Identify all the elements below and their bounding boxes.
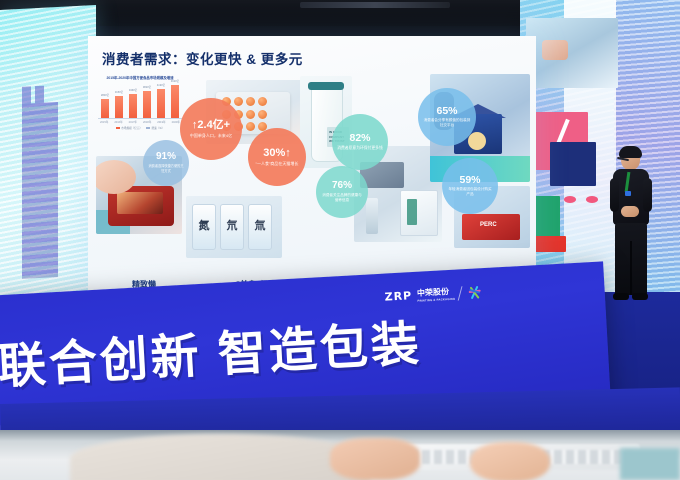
stat-caption: 消费者选择快捷方便的烹饪方式 bbox=[147, 164, 185, 173]
stat-caption: 年轻消费者因包装设计购买产品 bbox=[447, 187, 493, 197]
stat-bubble-76: 76% 消费者关注品牌的健康与营养信息 bbox=[316, 166, 368, 218]
stat-value: ↑2.4亿+ bbox=[192, 120, 230, 131]
stat-bubble-91: 91% 消费者选择快捷方便的烹饪方式 bbox=[143, 140, 189, 186]
bar-value-label: 4620亿 bbox=[171, 79, 179, 83]
tube-package bbox=[366, 198, 378, 234]
badge bbox=[625, 191, 631, 196]
logo-cn-label: 中荣股份 bbox=[417, 287, 449, 298]
stat-bubble-30: 30%↑ “一人食”商品在天猫增长 bbox=[248, 128, 306, 186]
ceiling-light bbox=[300, 2, 450, 8]
egg bbox=[246, 110, 255, 119]
moon-graphic bbox=[468, 132, 486, 150]
market-size-bar-chart: 2015年-2020年中国方便食品市场规模及增速 2800亿 3150亿 346… bbox=[98, 76, 182, 132]
foreground-object bbox=[620, 448, 680, 480]
carton-box bbox=[400, 190, 438, 236]
stat-bubble-65: 65% 消费者会分享有颜值的包装到社交平台 bbox=[418, 88, 476, 146]
egg bbox=[258, 97, 267, 106]
banner-headline: 联合创新 智造包装 bbox=[0, 304, 423, 398]
legend-swatch bbox=[146, 127, 150, 129]
presentation-screen: 消费者需求：变化更快 & 更多元 2015年-2020年中国方便食品市场规模及增… bbox=[88, 36, 536, 300]
chart-bar: 4190亿 bbox=[157, 89, 165, 119]
can: 氮 bbox=[192, 204, 216, 250]
foreground-hand bbox=[330, 438, 420, 480]
stat-value: 65% bbox=[436, 106, 457, 117]
left-panel-block bbox=[22, 86, 31, 103]
presenter-arm-left bbox=[610, 178, 619, 212]
x-tick-label: 2017年 bbox=[129, 120, 137, 124]
bar-value-label: 4190亿 bbox=[157, 83, 165, 87]
foreground-person bbox=[70, 434, 370, 480]
presenter bbox=[608, 148, 654, 310]
brand-logo: ZRP 中荣股份 PRINTING & PACKAGING bbox=[384, 284, 484, 305]
led-photo-tile bbox=[526, 18, 618, 88]
x-tick-label: 2019年 bbox=[157, 120, 165, 124]
logo-latin-text: ZRP bbox=[384, 289, 412, 304]
chart-title: 2015年-2020年中国方便食品市场规模及增速 bbox=[98, 76, 182, 81]
stage-scene: PERC 消费者需求：变化更快 & 更多元 2015年-2020年中国方便食品市… bbox=[0, 0, 680, 480]
stat-caption: 消费者愿意为环保付更多钱 bbox=[337, 146, 383, 152]
x-tick-label: 2018年 bbox=[143, 120, 151, 124]
legend-swatch bbox=[116, 127, 120, 129]
logo-divider bbox=[458, 286, 463, 300]
bar-value-label: 3150亿 bbox=[115, 90, 123, 94]
legend-label: 增速（%） bbox=[152, 126, 165, 130]
can: 氘 bbox=[220, 204, 244, 250]
chart-bars: 2800亿 3150亿 3460亿 3820亿 4190亿 4620亿 bbox=[98, 84, 182, 119]
chart-bar: 3150亿 bbox=[115, 96, 123, 118]
led-dot bbox=[586, 196, 598, 203]
legend-label: 市场规模（亿元） bbox=[121, 126, 142, 130]
chart-legend: 市场规模（亿元） 增速（%） bbox=[98, 126, 182, 130]
stat-caption: 消费者关注品牌的健康与营养信息 bbox=[321, 193, 363, 203]
stat-value: 30%↑ bbox=[263, 148, 291, 159]
x-tick-label: 2016年 bbox=[114, 120, 122, 124]
presenter-arm-right bbox=[643, 178, 652, 212]
logo-subtitle: PRINTING & PACKAGING bbox=[417, 297, 455, 303]
legend-entry: 市场规模（亿元） bbox=[116, 126, 142, 130]
stat-value: 76% bbox=[332, 181, 352, 191]
presenter-shoe-left bbox=[613, 293, 629, 300]
stat-bubble-82: 82% 消费者愿意为环保付更多钱 bbox=[332, 114, 388, 170]
stat-bubble-24yi: ↑2.4亿+ 中国单身人口，未来4亿 bbox=[180, 98, 242, 160]
kit-box bbox=[462, 214, 520, 240]
stat-value: 59% bbox=[459, 175, 480, 186]
foreground-hand bbox=[470, 442, 550, 480]
chart-bar: 2800亿 bbox=[101, 99, 109, 118]
logo-chinese-text: 中荣股份 PRINTING & PACKAGING bbox=[417, 286, 456, 303]
chart-x-axis: 2015年 2016年 2017年 2018年 2019年 2020年 bbox=[98, 119, 182, 124]
can: 氚 bbox=[248, 204, 272, 250]
egg bbox=[234, 97, 243, 106]
cup-lid bbox=[308, 82, 344, 90]
blurred-foreground bbox=[0, 430, 680, 480]
stat-value: 91% bbox=[156, 152, 176, 162]
presenter-hands bbox=[621, 206, 639, 217]
slide-title: 消费者需求：变化更快 & 更多元 bbox=[102, 48, 303, 68]
chart-bar: 4620亿 bbox=[171, 85, 179, 118]
stat-bubble-59: 59% 年轻消费者因包装设计购买产品 bbox=[442, 158, 498, 214]
egg bbox=[246, 122, 255, 131]
can-glyph: 氘 bbox=[227, 217, 238, 233]
x-tick-label: 2020年 bbox=[172, 120, 180, 124]
legend-entry: 增速（%） bbox=[146, 126, 164, 130]
stat-caption: “一人食”商品在天猫增长 bbox=[253, 161, 301, 167]
left-panel-block bbox=[35, 86, 44, 103]
bar-value-label: 2800亿 bbox=[101, 93, 109, 97]
x-tick-label: 2015年 bbox=[100, 120, 108, 124]
chart-bar: 3820亿 bbox=[143, 91, 151, 118]
can-glyph: 氚 bbox=[255, 217, 266, 233]
can-glyph: 氮 bbox=[199, 217, 210, 233]
egg bbox=[258, 110, 267, 119]
bar-value-label: 3820亿 bbox=[143, 85, 151, 89]
chart-bar: 3460亿 bbox=[129, 94, 137, 118]
stat-value: 82% bbox=[349, 133, 370, 144]
led-navy-tile bbox=[550, 142, 596, 186]
partner-star-icon bbox=[466, 285, 485, 300]
left-led-panel bbox=[0, 5, 96, 302]
egg bbox=[246, 97, 255, 106]
left-panel-bars bbox=[22, 102, 58, 279]
stat-caption: 消费者会分享有颜值的包装到社交平台 bbox=[423, 118, 471, 128]
presenter-legs bbox=[615, 223, 647, 295]
presenter-hair bbox=[619, 146, 642, 158]
photo-beverage-cans: 氮 氘 氚 bbox=[186, 196, 282, 258]
bar-value-label: 3460亿 bbox=[129, 88, 137, 92]
presenter-shoe-right bbox=[632, 293, 648, 300]
led-dot bbox=[564, 196, 576, 203]
stat-caption: 中国单身人口，未来4亿 bbox=[186, 133, 236, 139]
